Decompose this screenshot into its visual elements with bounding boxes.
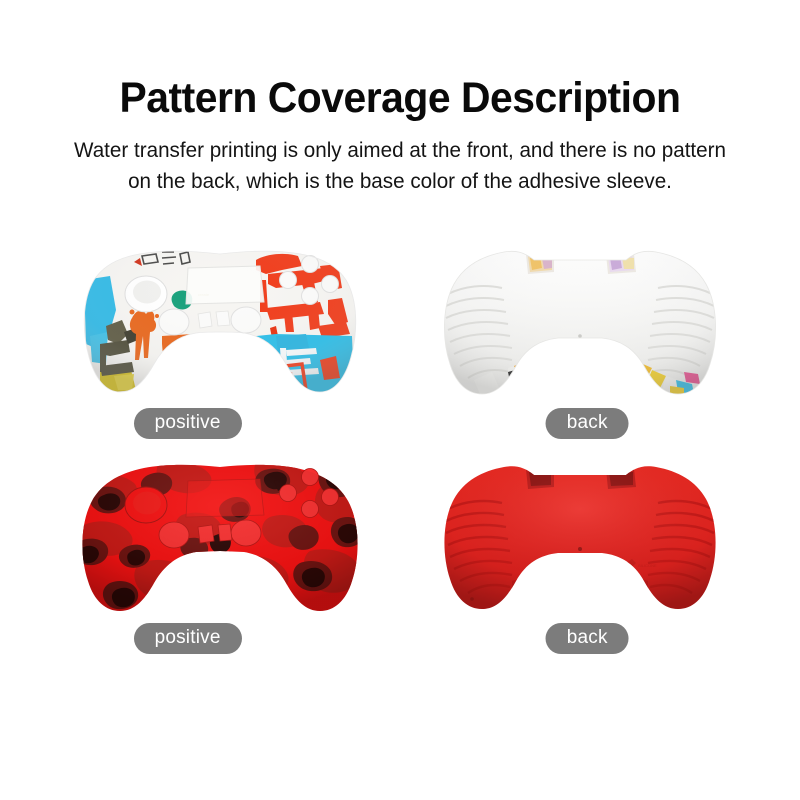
badge-back-graffiti: back bbox=[546, 408, 629, 439]
page-title: Pattern Coverage Description bbox=[20, 76, 780, 121]
svg-text:DUALSENSE: DUALSENSE bbox=[252, 353, 277, 358]
page-subtitle: Water transfer printing is only aimed at… bbox=[62, 135, 738, 196]
badge-back-camo: back bbox=[546, 623, 629, 654]
product-gallery: DUALSENSE create bbox=[0, 240, 800, 680]
product-image-graffiti-front: DUALSENSE create bbox=[70, 240, 370, 402]
product-cell-graffiti-front: DUALSENSE create bbox=[40, 240, 400, 450]
product-image-camo-front bbox=[70, 455, 370, 617]
product-image-camo-back: SILICONE bbox=[430, 455, 730, 617]
product-cell-graffiti-back: back bbox=[400, 240, 760, 450]
badge-positive-graffiti: positive bbox=[134, 408, 242, 439]
badge-positive-camo: positive bbox=[134, 623, 242, 654]
product-cell-camo-back: SILICONE back bbox=[400, 455, 760, 665]
header: Pattern Coverage Description Water trans… bbox=[0, 0, 800, 196]
product-cell-camo-front: positive bbox=[40, 455, 400, 665]
product-image-graffiti-back bbox=[430, 240, 730, 402]
